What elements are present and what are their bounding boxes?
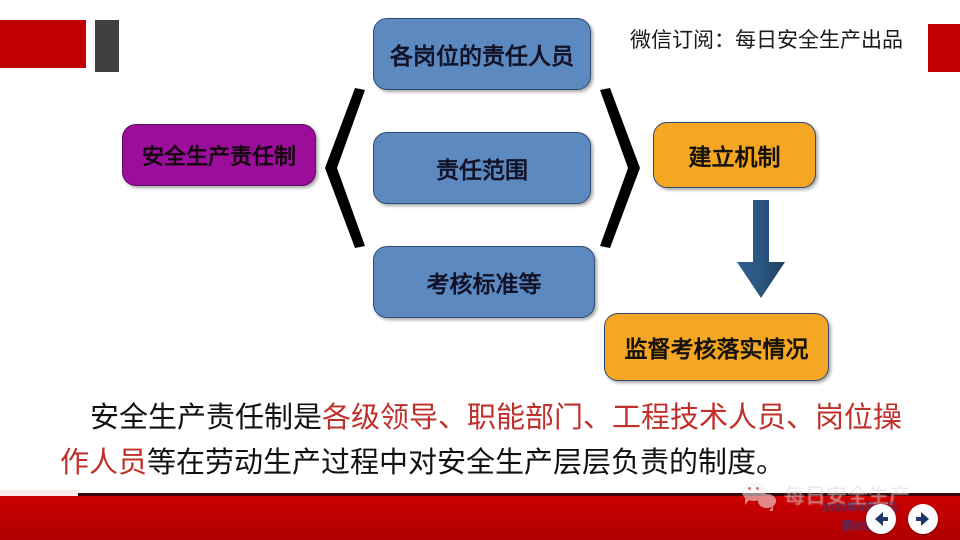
node-supervise-assessment-implementation[interactable]: 监督考核落实情况 — [604, 313, 829, 381]
decoration-gray-block-top-left — [95, 20, 119, 72]
decoration-red-block-top-right — [928, 24, 960, 72]
wechat-logo-icon — [742, 482, 776, 508]
node-establish-mechanism[interactable]: 建立机制 — [653, 122, 816, 188]
nav-next-button[interactable] — [908, 504, 938, 534]
bracket-right-icon — [592, 88, 640, 248]
nav-prev-button[interactable] — [866, 504, 896, 534]
arrow-down-icon — [735, 200, 787, 305]
body-segment-1: 安全生产责任制是 — [90, 402, 322, 434]
decoration-red-block-top-left — [0, 20, 86, 68]
node-assessment-standards[interactable]: 考核标准等 — [373, 246, 595, 318]
node-responsible-personnel[interactable]: 各岗位的责任人员 — [373, 18, 591, 90]
arrow-left-icon — [872, 510, 890, 528]
bracket-left-icon — [325, 88, 373, 248]
body-paragraph: 安全生产责任制是各级领导、职能部门、工程技术人员、岗位操作人员等在劳动生产过程中… — [60, 396, 920, 486]
node-safety-responsibility-system[interactable]: 安全生产责任制 — [122, 124, 316, 186]
arrow-right-icon — [914, 510, 932, 528]
node-responsibility-scope[interactable]: 责任范围 — [373, 132, 591, 204]
header-caption: 微信订阅：每日安全生产出品 — [630, 28, 903, 53]
slide-canvas: 微信订阅：每日安全生产出品 安全生产责任制 各岗位的责任人员 责任范围 考核标准… — [0, 0, 960, 540]
body-segment-3: 等在劳动生产过程中对安全生产层层负责的制度。 — [147, 447, 785, 479]
